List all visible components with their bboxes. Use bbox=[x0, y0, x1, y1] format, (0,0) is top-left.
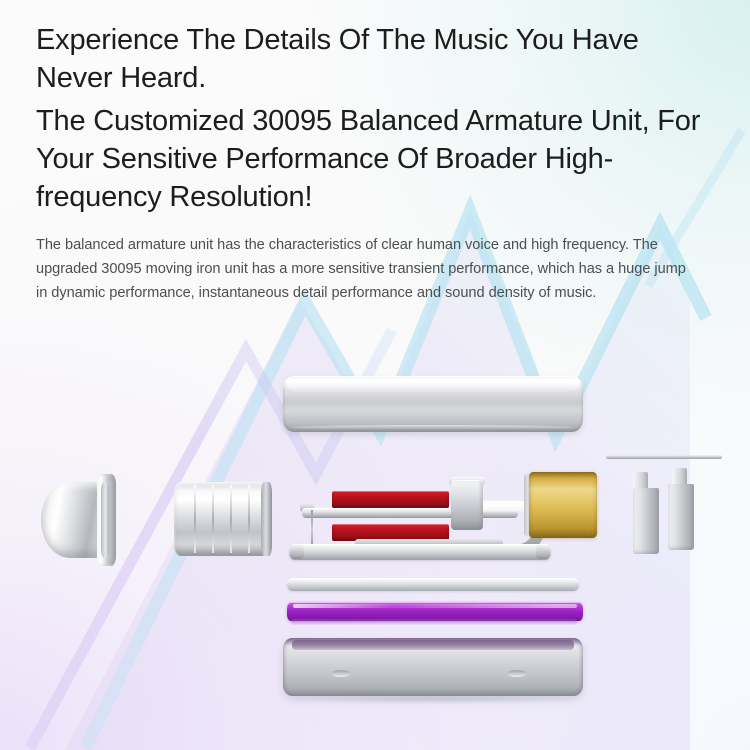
connecting-pin-part bbox=[606, 455, 722, 459]
terminal-body bbox=[633, 488, 659, 554]
nozzle-flange-inner bbox=[101, 482, 109, 558]
base-plate-part bbox=[289, 544, 551, 560]
ribbed-tube-part bbox=[174, 482, 272, 556]
bottom-shell-cavity bbox=[292, 640, 574, 650]
promo-image: Experience The Details Of The Music You … bbox=[0, 0, 750, 750]
tube-end-cap bbox=[261, 482, 272, 556]
top-shell-part bbox=[283, 376, 583, 432]
base-plate-lug-left bbox=[290, 545, 304, 559]
bobbin-part bbox=[451, 480, 483, 530]
terminal-body bbox=[668, 484, 694, 550]
tube-rib bbox=[212, 485, 214, 553]
bottom-shell-dimple bbox=[331, 670, 351, 677]
tube-rib bbox=[248, 485, 250, 553]
tube-rib bbox=[230, 485, 232, 553]
base-plate-lug-right bbox=[536, 545, 550, 559]
sound-nozzle-part bbox=[41, 474, 119, 566]
exploded-driver-diagram bbox=[0, 0, 750, 750]
terminal-plate-1-part bbox=[633, 472, 659, 554]
tube-rib bbox=[194, 485, 196, 553]
bottom-shell-part bbox=[283, 638, 583, 696]
bottom-shell-dimple bbox=[507, 670, 527, 677]
terminal-plate-2-part bbox=[668, 468, 694, 550]
red-magnet-upper-part bbox=[332, 491, 449, 508]
mid-plate-part bbox=[287, 578, 579, 591]
gold-coil-part bbox=[529, 472, 597, 538]
diaphragm-underside bbox=[291, 619, 577, 625]
drop-shadow bbox=[292, 694, 574, 704]
